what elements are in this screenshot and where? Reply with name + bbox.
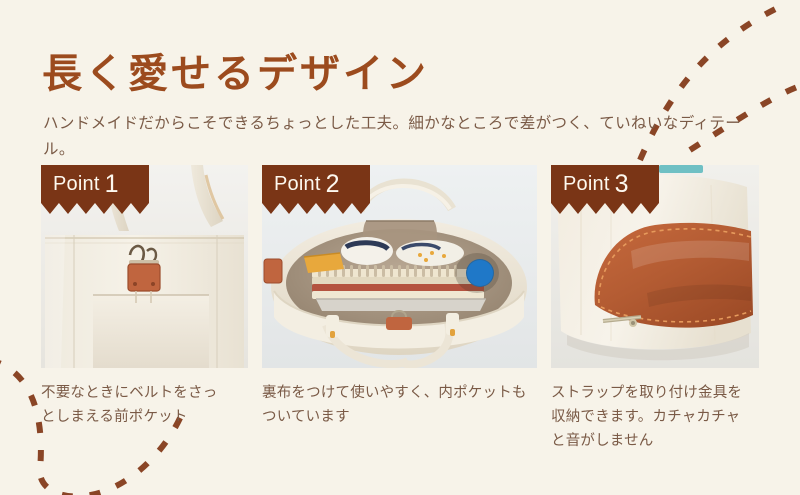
feature-card: Point 3 ストラップを取り付け金具を収納できます。カチャカチャと音がしませ… xyxy=(551,165,759,468)
feature-photo-3: Point 3 xyxy=(551,165,759,368)
feature-photo-1: Point 1 xyxy=(41,165,248,368)
point-badge-number: 2 xyxy=(326,172,340,197)
product-feature-page: 長く愛せるデザイン ハンドメイドだからこそできるちょっとした工夫。細かなところで… xyxy=(0,0,800,495)
point-badge-2: Point 2 xyxy=(262,165,370,203)
page-title: 長く愛せるデザイン xyxy=(42,49,429,99)
point-badge-1: Point 1 xyxy=(41,165,149,203)
page-subtitle: ハンドメイドだからこそできるちょっとした工夫。細かなところで差がつく、ていねいな… xyxy=(43,111,743,164)
feature-caption: ストラップを取り付け金具を収納できます。カチャカチャと音がしません xyxy=(551,381,747,453)
feature-card: Point 2 裏布をつけて使いやすく、内ポケットもついています xyxy=(262,165,537,468)
feature-photo-2: Point 2 xyxy=(262,165,537,368)
point-badge-number: 3 xyxy=(615,172,629,197)
point-badge-label: Point xyxy=(563,174,610,194)
point-badge-3: Point 3 xyxy=(551,165,659,203)
feature-caption: 不要なときにベルトをさっとしまえる前ポケット xyxy=(41,381,231,429)
point-badge-label: Point xyxy=(53,174,100,194)
feature-caption: 裏布をつけて使いやすく、内ポケットもついています xyxy=(262,381,530,429)
point-badge-number: 1 xyxy=(105,172,119,197)
feature-card-list: Point 1 不要なときにベルトをさっとしまえる前ポケット xyxy=(41,165,759,468)
point-badge-label: Point xyxy=(274,174,321,194)
feature-card: Point 1 不要なときにベルトをさっとしまえる前ポケット xyxy=(41,165,248,468)
